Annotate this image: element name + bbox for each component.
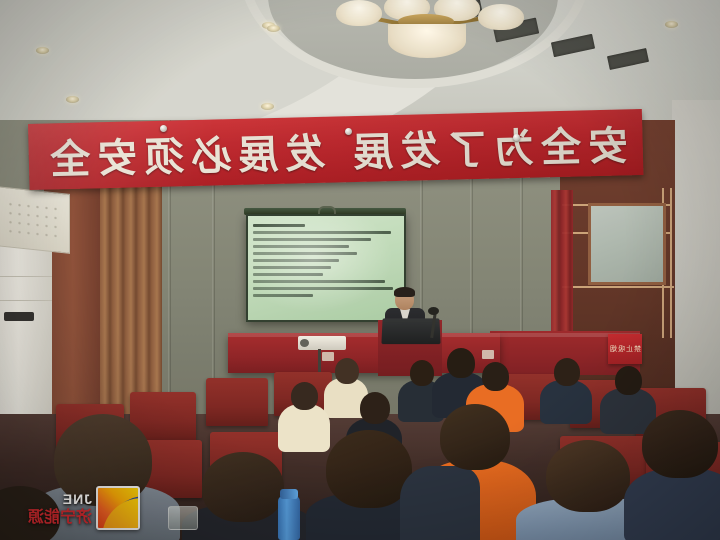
banner-pin (513, 134, 520, 141)
downlight-icon (66, 96, 79, 103)
audience-head (410, 360, 434, 386)
chair (206, 378, 268, 426)
chandelier-shade (478, 4, 524, 30)
logo-swoosh (104, 496, 140, 530)
projection-screen-frame (246, 214, 406, 322)
screen-glare (248, 216, 404, 320)
audience-head (554, 358, 580, 386)
audience-torso (624, 468, 720, 540)
audience-head (546, 440, 630, 512)
audience-person-foreground (628, 410, 720, 540)
audience-head (482, 362, 509, 391)
ceiling-vent-grille (607, 48, 649, 70)
wall-sign-label: 禁止吸烟 (609, 344, 641, 354)
audience-person-foreground-vest (418, 404, 530, 540)
audience-head (440, 404, 510, 470)
audience-head (335, 358, 359, 384)
microphone-icon (428, 307, 439, 315)
jne-logo-mark-icon (96, 486, 140, 530)
right-plain-wall (672, 100, 720, 430)
audience-head (642, 410, 718, 478)
wood-trim-line (670, 188, 672, 338)
chandelier-bowl (388, 24, 466, 58)
wood-slat-wall (100, 170, 162, 430)
projection-screen (248, 216, 404, 320)
wood-trim-line (562, 286, 674, 288)
audience-torso (540, 380, 592, 424)
banner-pin (160, 125, 167, 132)
watermark-text: JNE 济宁能源 (28, 492, 92, 525)
ac-vent-dots (6, 199, 58, 238)
speaker-hair (394, 287, 415, 297)
audience-head (291, 382, 318, 410)
watermark-chinese: 济宁能源 (28, 509, 92, 525)
chandelier (330, 0, 520, 58)
air-conditioner-unit (0, 222, 52, 427)
bottle-cap[interactable] (280, 489, 298, 499)
downlight-icon (665, 21, 678, 28)
screen-hook (318, 206, 336, 214)
audience-head (202, 452, 284, 522)
downlight-icon (261, 103, 274, 110)
audience-head (360, 392, 390, 424)
ac-seam (0, 276, 52, 277)
watermark-logo: JNE 济宁能源 (14, 484, 140, 532)
water-bottle[interactable] (278, 496, 300, 540)
ac-display-panel[interactable] (4, 312, 34, 321)
audience-person (540, 358, 592, 420)
banner-pin (345, 128, 352, 135)
projector-lens (300, 339, 309, 347)
chandelier-shade (336, 0, 382, 26)
wall-sign: 禁止吸烟 (608, 334, 642, 364)
audience-head (615, 366, 642, 395)
watermark-english: JNE (28, 492, 92, 506)
glass-cup[interactable] (168, 506, 198, 530)
downlight-icon (36, 47, 49, 54)
wall-niche (588, 203, 666, 285)
photo-scene: 禁止吸烟 安全为了发展 发展必须安全 (0, 0, 720, 540)
audience-jacket (400, 466, 480, 540)
downlight-icon (267, 25, 280, 32)
ac-seam (0, 300, 52, 301)
